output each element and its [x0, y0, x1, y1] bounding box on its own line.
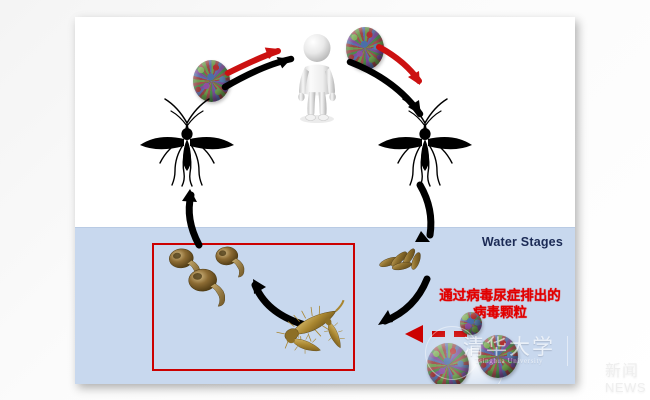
human-figure [287, 33, 347, 125]
annotation-line-2: 病毒颗粒 [420, 304, 575, 321]
virus-particle-large-right [478, 335, 518, 378]
figure-canvas: Water Stages [0, 0, 650, 400]
watermark-news: 新闻 NEWS [605, 364, 646, 396]
virus-particle-left [193, 60, 230, 102]
virus-particle-right [346, 27, 384, 70]
watermark-news-en: NEWS [605, 380, 646, 396]
arrow-mosquito-to-human-red [228, 46, 280, 73]
aquatic-stages-highlight-box [152, 243, 355, 371]
viruria-annotation: 通过病毒尿症排出的 病毒颗粒 [420, 287, 575, 321]
diagram-panel: Water Stages [75, 17, 575, 384]
watermark-news-cn: 新闻 [605, 364, 646, 380]
adult-mosquito-right [370, 87, 480, 187]
arrow-human-to-mosquito-black [350, 62, 421, 115]
arrow-human-to-mosquito-red [379, 47, 420, 85]
water-stages-label: Water Stages [482, 235, 563, 249]
adult-mosquito-left [132, 87, 242, 187]
annotation-line-1: 通过病毒尿症排出的 [420, 287, 575, 304]
virus-particle-large-left [427, 343, 469, 384]
virus-particle-small [460, 312, 482, 335]
arrow-mosquito-to-human-black [225, 55, 292, 87]
